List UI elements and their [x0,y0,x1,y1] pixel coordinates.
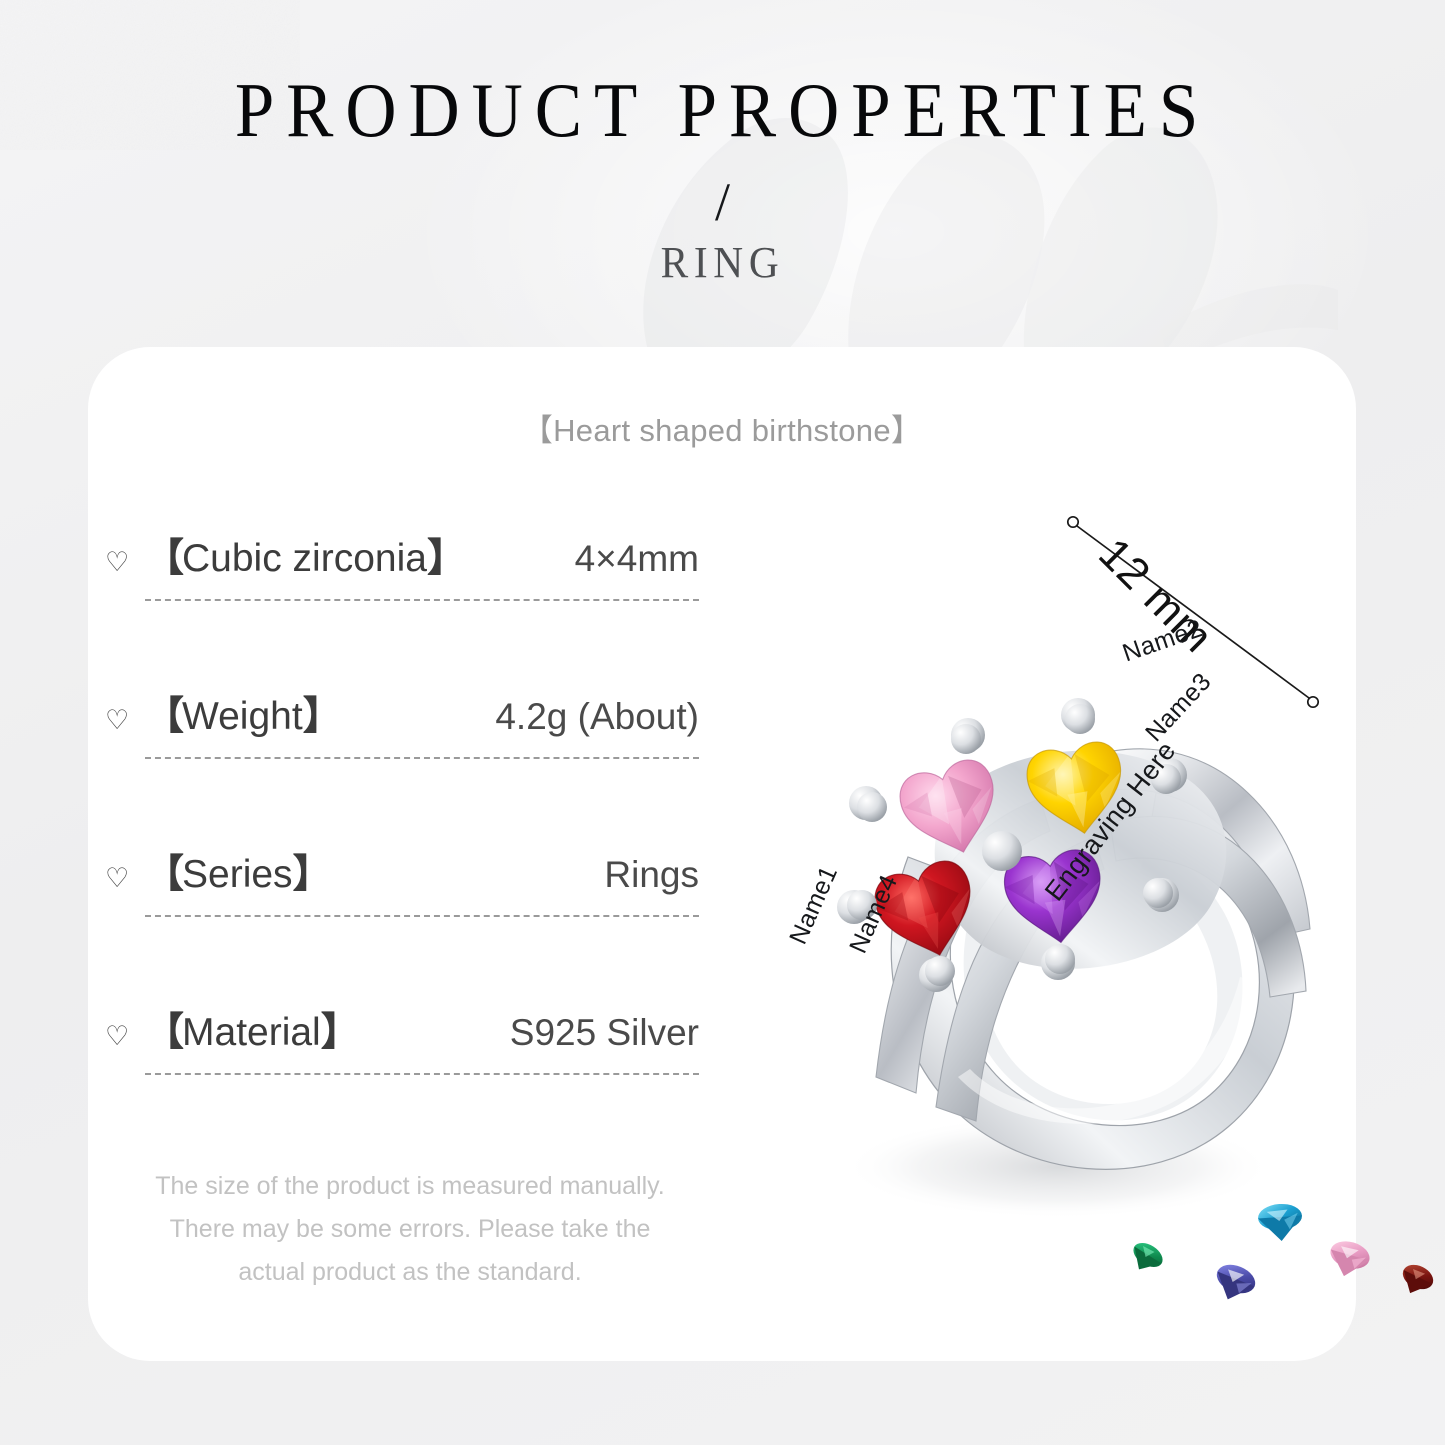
loose-gemstones [1118,1177,1445,1307]
spec-list: ♡ 【Cubic zirconia】 4×4mm ♡ 【Weight】 4.2g… [105,527,705,1159]
disclaimer-line: There may be some errors. Please take th… [145,1208,675,1251]
ring-image: Name1 Name4 Name2 Name3 Engraving Here [758,607,1358,1227]
page-title: PRODUCT PROPERTIES [58,72,1387,149]
heart-outline-icon: ♡ [105,707,145,734]
spec-divider [145,915,699,917]
spec-value: Rings [604,854,705,896]
product-properties-infographic: PRODUCT PROPERTIES / RING 【Heart shaped … [0,0,1445,1445]
disclaimer-text: The size of the product is measured manu… [145,1165,675,1294]
page-header: PRODUCT PROPERTIES / RING [0,72,1445,285]
spec-value: 4.2g (About) [495,696,705,738]
heart-outline-icon: ♡ [105,549,145,576]
spec-row-weight: ♡ 【Weight】 4.2g (About) [105,685,705,843]
spec-row-series: ♡ 【Series】 Rings [105,843,705,1001]
spec-label: 【Series】 [145,843,330,899]
disclaimer-line: actual product as the standard. [145,1251,675,1294]
spec-divider [145,599,699,601]
properties-card: 【Heart shaped birthstone】 ♡ 【Cubic zirco… [88,347,1356,1361]
spec-label: 【Material】 [145,1001,358,1057]
spec-value: S925 Silver [510,1012,705,1054]
spec-divider [145,1073,699,1075]
product-photo: 12 mm [728,487,1348,1317]
spec-row-cubic-zirconia: ♡ 【Cubic zirconia】 4×4mm [105,527,705,685]
disclaimer-line: The size of the product is measured manu… [145,1165,675,1208]
spec-label: 【Weight】 [145,685,340,741]
spec-label: 【Cubic zirconia】 [145,527,464,583]
heart-outline-icon: ♡ [105,1023,145,1050]
spec-value: 4×4mm [575,538,705,580]
spec-divider [145,757,699,759]
spec-row-material: ♡ 【Material】 S925 Silver [105,1001,705,1159]
card-caption: 【Heart shaped birthstone】 [88,405,1356,450]
heart-outline-icon: ♡ [105,865,145,892]
header-separator: / [0,175,1445,229]
page-subtitle: RING [43,241,1401,285]
